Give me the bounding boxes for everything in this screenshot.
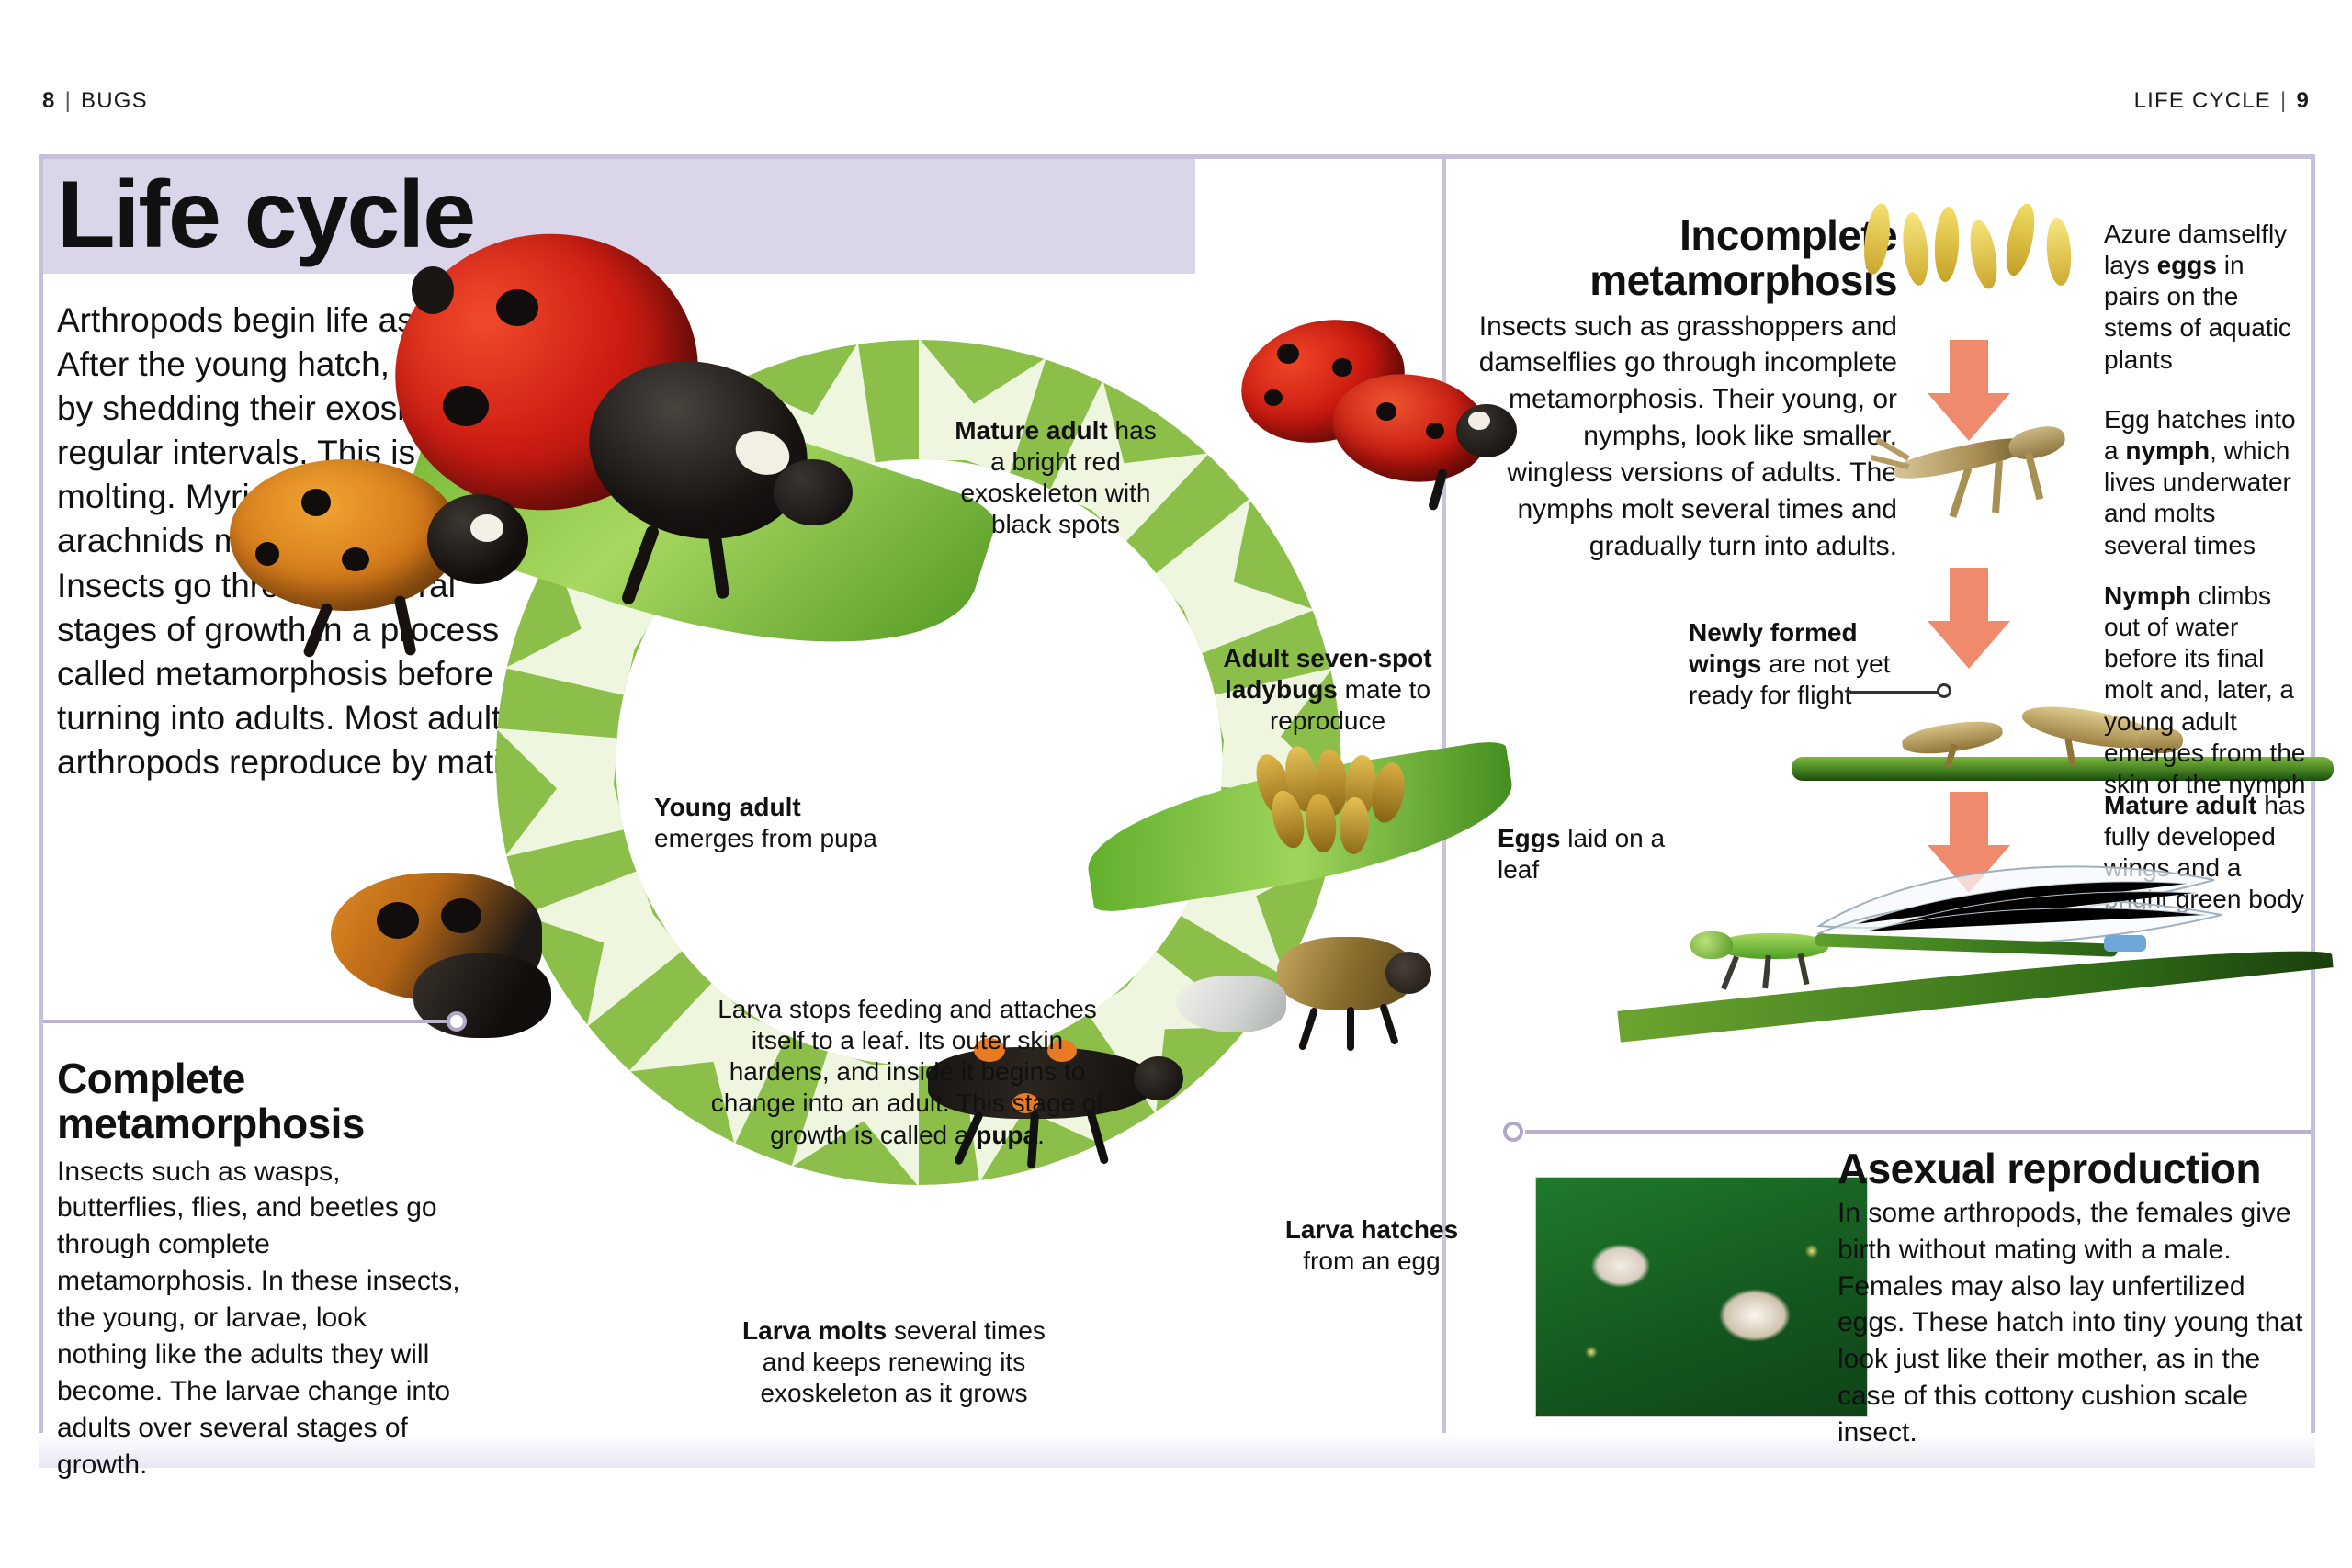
photo-larva-hatching-from-egg (1167, 919, 1442, 1093)
label-pupa-note: Larva stops feeding and attaches itself … (698, 994, 1116, 1151)
ladybug-spot (443, 386, 489, 426)
young-adult-white-mark (470, 514, 503, 542)
complete-metamorphosis-heading-line1: Complete (57, 1055, 245, 1102)
damselfly-egg (2001, 201, 2040, 278)
note-nymph-hatch-bold: nymph (2125, 436, 2210, 465)
note-nymph-climbs-out: Nymph climbs out of water before its fin… (2104, 581, 2306, 800)
note-nymph-climb-bold: Nymph (2104, 581, 2191, 610)
nymph-leg (1950, 467, 1973, 518)
complete-metamorphosis-heading: Complete metamorphosis (57, 1056, 461, 1146)
label-larva-hatches-bold: Larva hatches (1285, 1215, 1458, 1244)
asexual-reproduction-rule-dot (1503, 1122, 1523, 1142)
incomplete-metamorphosis-body: Insects such as grasshoppers and damself… (1470, 309, 1897, 565)
damselfly-egg (1933, 206, 1961, 282)
photo-young-adult-ladybug (202, 441, 588, 680)
damselfly-tail-tip (2104, 935, 2146, 952)
complete-metamorphosis-rule-dot (447, 1011, 467, 1032)
young-adult-elytra (230, 459, 459, 611)
ladybug-head (774, 459, 853, 525)
label-larva-hatches: Larva hatches from an egg (1266, 1214, 1477, 1277)
ladybug-leg (393, 594, 416, 656)
damselfly-egg (1966, 218, 2002, 290)
arrow-stem (1950, 568, 1988, 625)
ladybug-spot (1264, 389, 1283, 406)
asexual-reproduction-body: In some arthropods, the females give bir… (1837, 1195, 2315, 1451)
nymph-leg (1992, 461, 2003, 513)
pupa-shed-skin (413, 953, 551, 1038)
asexual-reproduction-rule (1525, 1130, 2311, 1134)
pupa-spot (377, 902, 419, 939)
runhead-separator-left: | (56, 88, 81, 113)
label-mature-adult: Mature adult has a bright red exoskeleto… (950, 415, 1161, 541)
ladybug-spot (301, 489, 331, 516)
arrow-head (1928, 621, 2010, 669)
ladybug-spot (496, 289, 538, 326)
photo-cottony-cushion-scale-insect (1536, 1178, 1867, 1416)
label-eggs-bold: Eggs (1498, 824, 1560, 852)
larva-leg (1298, 1007, 1318, 1051)
ladybug-spot (412, 266, 454, 314)
nymph-leg (2025, 452, 2043, 500)
ladybug-spot (1332, 358, 1352, 377)
label-pupa-bold: pupa (976, 1121, 1037, 1149)
page-number-left: 8 (42, 88, 56, 113)
damselfly-egg (1900, 211, 1931, 287)
section-name-left: BUGS (81, 88, 148, 113)
ladybug-spot (342, 547, 369, 571)
ladybug-spot (1277, 344, 1299, 364)
incomplete-metamorphosis-section: Incomplete metamorphosis Insects such as… (1470, 213, 1897, 565)
photo-damselfly-nymph-underwater (1856, 395, 2122, 533)
arrow-stem (1950, 792, 1988, 849)
note-damselfly-eggs: Azure damselfly lays eggs in pairs on th… (2104, 219, 2297, 376)
larva-leg (1347, 1007, 1354, 1051)
note-eggs-bold: eggs (2157, 251, 2217, 279)
damselfly-egg (1860, 202, 1894, 276)
asexual-reproduction-section: Asexual reproduction In some arthropods,… (1837, 1146, 2315, 1451)
note-nymph-climb-post: climbs out of water before its final mol… (2104, 581, 2305, 798)
label-larva-hatches-text: from an egg (1303, 1247, 1440, 1275)
damselfly-leg (1721, 955, 1739, 989)
photo-damselfly-eggs (1856, 197, 2104, 308)
label-mature-adult-bold: Mature adult (955, 416, 1107, 445)
incomplete-metamorphosis-heading: Incomplete metamorphosis (1470, 213, 1897, 303)
pupa-spot (441, 898, 481, 933)
damselfly-egg (2044, 217, 2073, 287)
damselfly-leg (1762, 955, 1771, 988)
empty-egg-shell (1176, 976, 1286, 1032)
running-head-left: 8|BUGS (42, 88, 148, 114)
note-egg-hatches-into-nymph: Egg hatches into a nymph, which lives un… (2104, 404, 2301, 561)
complete-metamorphosis-section: Complete metamorphosis Insects such as w… (57, 1056, 461, 1483)
ladybug-spot (255, 542, 279, 566)
complete-metamorphosis-body: Insects such as wasps, butterflies, flie… (57, 1154, 461, 1483)
damselfly-wings (1782, 854, 2260, 992)
label-larva-molts-bold: Larva molts (742, 1316, 887, 1345)
label-larva-molts: Larva molts several times and keeps rene… (742, 1315, 1046, 1409)
ladybug-spot (1426, 423, 1444, 439)
complete-metamorphosis-heading-line2: metamorphosis (57, 1100, 365, 1147)
label-young-adult-bold: Young adult (654, 793, 801, 821)
arrow-stem (1950, 340, 1988, 397)
incomplete-metamorphosis-heading-line2: metamorphosis (1589, 256, 1897, 304)
label-young-adult: Young adult emerges from pupa (654, 792, 911, 854)
label-pupa-post: . (1037, 1121, 1045, 1149)
complete-metamorphosis-rule (43, 1020, 457, 1023)
larva-leg (1379, 1003, 1399, 1045)
arrow-down-2 (1928, 568, 2010, 669)
ladybug-leg (302, 602, 334, 659)
hatching-larva-head (1385, 952, 1431, 994)
photo-adult-damselfly (1617, 854, 2334, 1056)
page-number-right: 9 (2296, 88, 2310, 113)
ladybug-spot (1376, 402, 1396, 421)
running-head-right: LIFE CYCLE|9 (2134, 88, 2310, 114)
section-name-right: LIFE CYCLE (2134, 88, 2271, 113)
label-adult-seven-spot-ladybugs: Adult seven-spot ladybugs mate to reprod… (1222, 643, 1433, 737)
damselfly-head (1690, 931, 1733, 959)
note-mature-adult-damselfly-bold: Mature adult (2104, 791, 2256, 819)
photo-egg-cluster (1240, 735, 1516, 900)
runhead-separator-right: | (2271, 88, 2296, 113)
asexual-reproduction-heading: Asexual reproduction (1837, 1146, 2315, 1191)
label-young-adult-text: emerges from pupa (654, 824, 877, 852)
label-pupa-pre: Larva stops feeding and attaches itself … (711, 995, 1104, 1149)
